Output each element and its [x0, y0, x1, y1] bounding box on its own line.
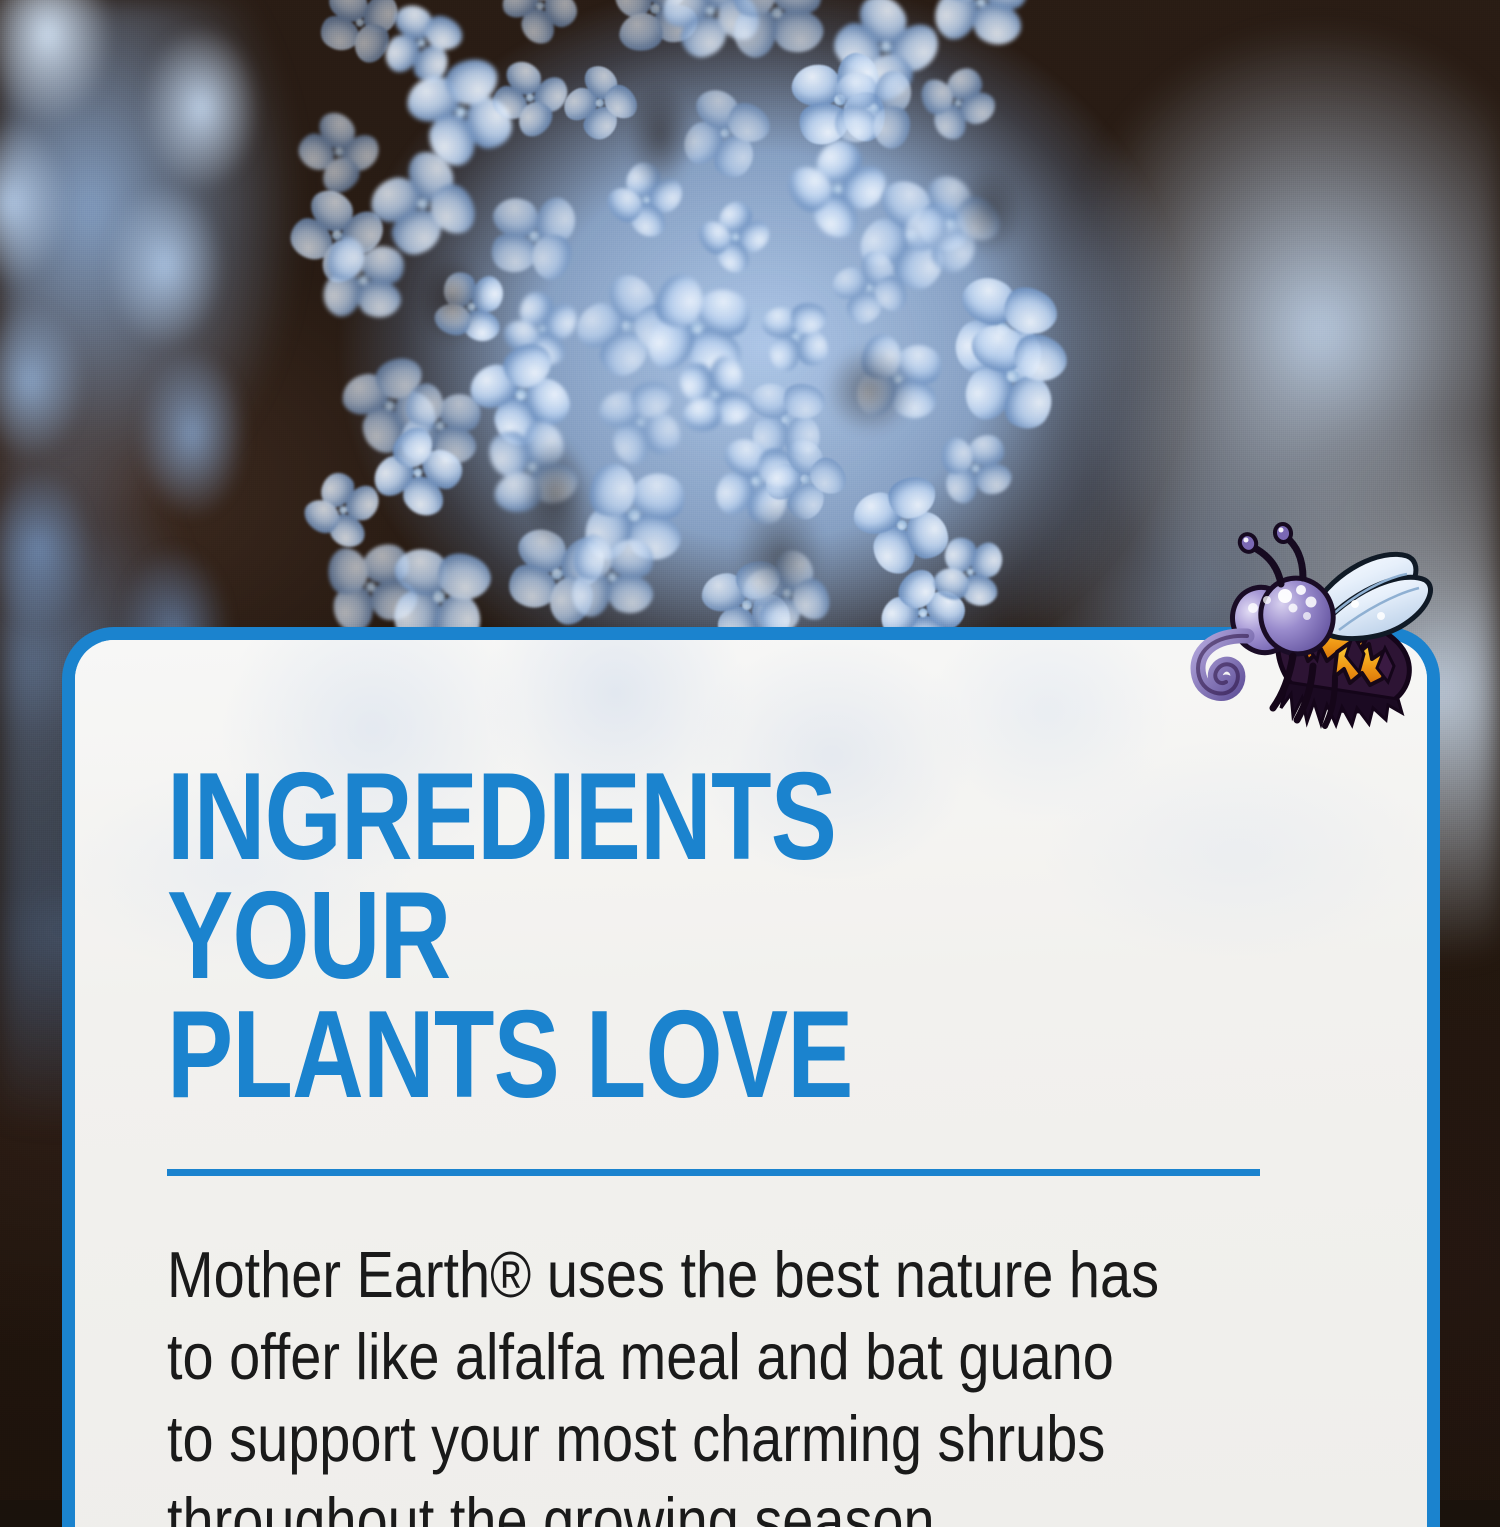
- bee-icon: [1185, 512, 1435, 742]
- page-title: INGREDIENTS YOUR PLANTS LOVE: [167, 758, 1101, 1115]
- bee-proboscis: [1198, 636, 1247, 694]
- bee-antennae: [1237, 523, 1303, 584]
- card-content: INGREDIENTS YOUR PLANTS LOVE Mother Eart…: [75, 640, 1427, 1527]
- title-divider: [167, 1169, 1260, 1176]
- info-card: INGREDIENTS YOUR PLANTS LOVE Mother Eart…: [62, 627, 1440, 1527]
- body-copy: Mother Earth® uses the best nature has t…: [167, 1234, 1171, 1527]
